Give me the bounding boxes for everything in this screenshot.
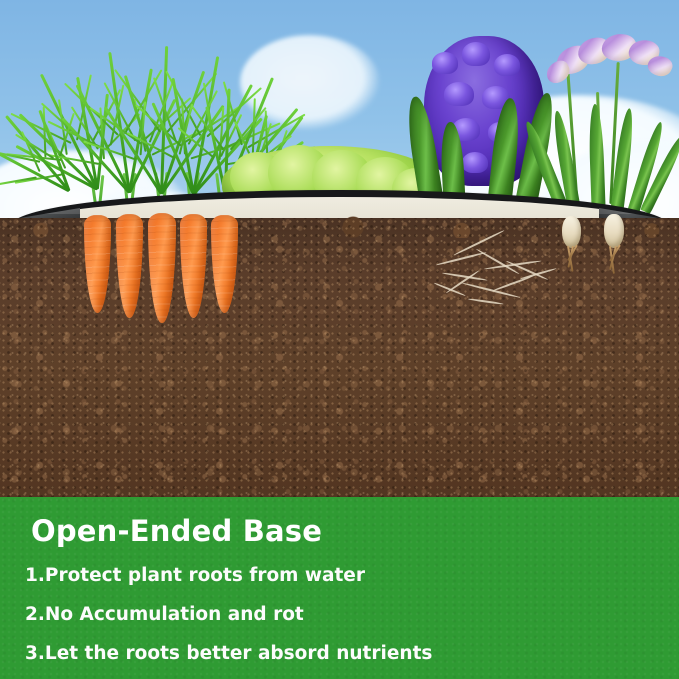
- freesia-bulb: [604, 214, 624, 248]
- root-cluster: [432, 238, 582, 324]
- caption-list: 1.Protect plant roots from water 2.No Ac…: [25, 565, 432, 679]
- root-strand: [434, 282, 466, 297]
- caption-title: Open-Ended Base: [31, 514, 322, 548]
- caption-band: Open-Ended Base 1.Protect plant roots fr…: [0, 497, 679, 679]
- caption-item: 3.Let the roots better absord nutrients: [25, 643, 432, 664]
- root-strand: [475, 248, 519, 275]
- caption-item: 2.No Accumulation and rot: [25, 604, 432, 625]
- root-strand: [436, 251, 487, 266]
- product-feature-image: Open-Ended Base 1.Protect plant roots fr…: [0, 0, 679, 679]
- hyacinth-floret: [432, 52, 458, 74]
- hyacinth-floret: [462, 42, 490, 66]
- hyacinth-floret: [444, 82, 474, 106]
- hyacinth-floret: [494, 54, 520, 76]
- root-strand: [468, 298, 504, 305]
- hyacinth-floret: [462, 152, 488, 173]
- freesia-bulb: [562, 216, 581, 248]
- caption-item: 1.Protect plant roots from water: [25, 565, 432, 586]
